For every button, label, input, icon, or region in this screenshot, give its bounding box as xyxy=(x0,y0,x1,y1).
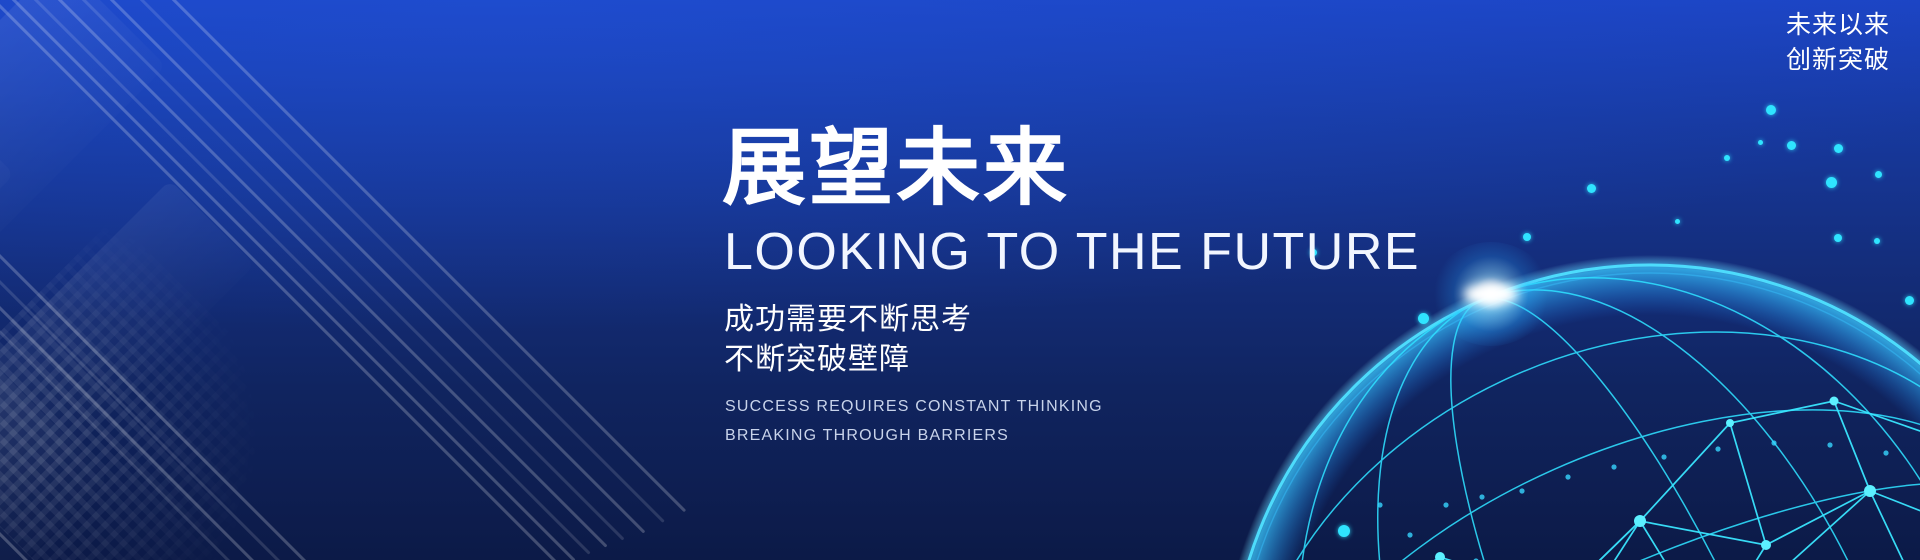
particle-dot xyxy=(1874,238,1880,244)
headline-subtitle-en: LOOKING TO THE FUTURE xyxy=(724,226,1482,278)
diagonal-hairline xyxy=(0,380,188,560)
particle-dot xyxy=(1724,155,1730,161)
subheading-cn-line1: 成功需要不断思考 xyxy=(724,300,1482,340)
particle-dot xyxy=(1834,234,1842,242)
diagonal-hairline xyxy=(0,210,335,560)
left-pattern-decoration xyxy=(0,0,760,560)
corner-tagline-line1: 未来以来 xyxy=(1786,8,1890,43)
subheading-cn: 成功需要不断思考 不断突破壁障 xyxy=(724,300,1482,379)
diagonal-hairline xyxy=(0,0,570,560)
corner-tagline-line2: 创新突破 xyxy=(1786,43,1890,78)
particle-dot xyxy=(1523,233,1531,241)
diagonal-hairline xyxy=(78,0,625,541)
headline-block: 展望未来 LOOKING TO THE FUTURE 成功需要不断思考 不断突破… xyxy=(722,126,1482,451)
particle-dot xyxy=(1758,140,1763,145)
diagonal-hairline xyxy=(168,0,686,512)
diagonal-band xyxy=(0,180,255,534)
diagonal-hairline xyxy=(136,0,665,523)
diagonal-hairline xyxy=(54,0,608,548)
particle-dot xyxy=(1905,296,1914,305)
particle-dot xyxy=(1875,171,1882,178)
diagonal-band xyxy=(0,40,14,507)
particle-dot xyxy=(1587,184,1596,193)
particle-dot xyxy=(1675,219,1680,224)
diagonal-hairline xyxy=(8,0,576,560)
subheading-cn-line2: 不断突破壁障 xyxy=(724,340,1482,380)
diagonal-hairline xyxy=(0,210,373,560)
corner-tagline: 未来以来 创新突破 xyxy=(1786,8,1890,77)
subheading-en-line2: BREAKING THROUGH BARRIERS xyxy=(725,422,1482,451)
particle-dot xyxy=(1766,105,1776,115)
diagonal-band xyxy=(0,0,166,462)
diagonal-hairline xyxy=(30,0,591,555)
diagonal-band xyxy=(0,330,108,560)
diagonal-hairline xyxy=(0,210,354,560)
promo-banner: 展望未来 LOOKING TO THE FUTURE 成功需要不断思考 不断突破… xyxy=(0,0,1920,560)
particle-dot xyxy=(1787,141,1796,150)
subheading-en: SUCCESS REQUIRES CONSTANT THINKING BREAK… xyxy=(725,393,1482,451)
particle-dot xyxy=(1834,144,1843,153)
particle-dot xyxy=(1338,525,1350,537)
diagonal-hairline xyxy=(0,210,318,560)
page-title: 展望未来 xyxy=(722,126,1482,210)
subheading-en-line1: SUCCESS REQUIRES CONSTANT THINKING xyxy=(725,393,1482,422)
diagonal-hairline xyxy=(0,380,209,560)
diagonal-hairline xyxy=(106,0,646,534)
particle-dot xyxy=(1826,177,1837,188)
dot-grid-pattern xyxy=(0,217,348,560)
